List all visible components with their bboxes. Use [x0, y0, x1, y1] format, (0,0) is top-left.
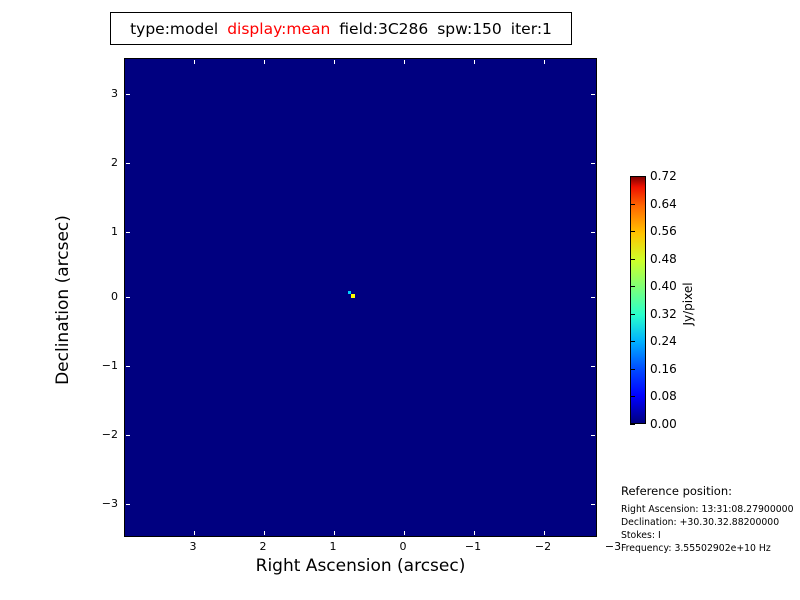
- tick-bottom-x-1: [334, 531, 335, 535]
- reference-frequency: Frequency: 3.55502902e+10 Hz: [621, 542, 799, 555]
- colorbar-label-016: 0.16: [650, 362, 677, 376]
- tick-bottom-x-0: [404, 531, 405, 535]
- tick-right-y-m1: [591, 366, 595, 367]
- colorbar[interactable]: [630, 176, 646, 424]
- x-tick-label-3: 3: [173, 540, 213, 553]
- tick-top-x-m2: [544, 60, 545, 64]
- colorbar-tick-072: [630, 176, 635, 177]
- reference-position-heading: Reference position:: [621, 484, 799, 498]
- tick-left-y-m3: [126, 504, 130, 505]
- colorbar-tick-048: [630, 259, 635, 260]
- tick-top-x-2: [264, 60, 265, 64]
- colorbar-label-056: 0.56: [650, 224, 677, 238]
- colorbar-label-008: 0.08: [650, 389, 677, 403]
- colorbar-label-024: 0.24: [650, 334, 677, 348]
- tick-left-y-3: [126, 94, 130, 95]
- tick-top-x-m1: [474, 60, 475, 64]
- y-tick-label-2: 2: [78, 156, 118, 169]
- colorbar-tick-016: [630, 369, 635, 370]
- colorbar-tick-000: [630, 424, 635, 425]
- y-tick-label-0: 0: [78, 290, 118, 303]
- sky-image-plot[interactable]: [124, 58, 597, 537]
- x-tick-label-m2: −2: [523, 540, 563, 553]
- colorbar-unit-label: Jy/pixel: [681, 249, 695, 359]
- colorbar-label-032: 0.32: [650, 307, 677, 321]
- x-axis-title: Right Ascension (arcsec): [124, 556, 597, 576]
- tick-bottom-x-3: [194, 531, 195, 535]
- title-segment-iter: iter:1: [511, 20, 552, 38]
- y-tick-label-m2: −2: [78, 428, 118, 441]
- plot-title-bar: type:model display:mean field:3C286 spw:…: [110, 12, 572, 45]
- reference-stokes: Stokes: I: [621, 529, 799, 542]
- tick-right-y-0: [591, 297, 595, 298]
- tick-top-x-3: [194, 60, 195, 64]
- colorbar-tick-064: [630, 204, 635, 205]
- tick-left-y-m1: [126, 366, 130, 367]
- y-axis-tick-labels: 3 2 1 0 −1 −2 −3: [72, 58, 118, 537]
- tick-left-y-m2: [126, 435, 130, 436]
- colorbar-tick-040: [630, 286, 635, 287]
- x-tick-label-2: 2: [243, 540, 283, 553]
- y-tick-label-m3: −3: [78, 497, 118, 510]
- tick-right-y-m3: [591, 504, 595, 505]
- tick-left-y-1: [126, 232, 130, 233]
- colorbar-label-040: 0.40: [650, 279, 677, 293]
- colorbar-tick-024: [630, 341, 635, 342]
- reference-declination: Declination: +30.30.32.88200000: [621, 516, 799, 529]
- y-tick-label-m1: −1: [78, 359, 118, 372]
- x-tick-label-m1: −1: [453, 540, 493, 553]
- title-segment-field: field:3C286: [339, 20, 428, 38]
- y-axis-title: Declination (arcsec): [53, 100, 73, 500]
- colorbar-gradient: [630, 176, 646, 424]
- tick-bottom-x-m2: [544, 531, 545, 535]
- colorbar-tick-056: [630, 231, 635, 232]
- colorbar-tick-032: [630, 314, 635, 315]
- colorbar-label-072: 0.72: [650, 169, 677, 183]
- y-tick-label-1: 1: [78, 225, 118, 238]
- title-segment-display: display:mean: [227, 20, 330, 38]
- x-tick-label-1: 1: [313, 540, 353, 553]
- colorbar-label-048: 0.48: [650, 252, 677, 266]
- title-segment-spw: spw:150: [437, 20, 502, 38]
- tick-top-x-0: [404, 60, 405, 64]
- tick-right-y-1: [591, 232, 595, 233]
- tick-right-y-2: [591, 163, 595, 164]
- x-tick-label-0: 0: [383, 540, 423, 553]
- title-segment-type: type:model: [130, 20, 218, 38]
- reference-position-block: Reference position: Right Ascension: 13:…: [621, 484, 799, 555]
- colorbar-label-000: 0.00: [650, 417, 677, 431]
- tick-right-y-m2: [591, 435, 595, 436]
- y-tick-label-3: 3: [78, 87, 118, 100]
- colorbar-tick-008: [630, 396, 635, 397]
- tick-right-y-3: [591, 94, 595, 95]
- tick-top-x-1: [334, 60, 335, 64]
- tick-left-y-2: [126, 163, 130, 164]
- point-source-marker: [351, 294, 355, 298]
- reference-right-ascension: Right Ascension: 13:31:08.27900000: [621, 503, 799, 516]
- colorbar-label-064: 0.64: [650, 197, 677, 211]
- tick-bottom-x-m1: [474, 531, 475, 535]
- tick-bottom-x-2: [264, 531, 265, 535]
- tick-left-y-0: [126, 297, 130, 298]
- image-pixel-canvas: [125, 59, 596, 536]
